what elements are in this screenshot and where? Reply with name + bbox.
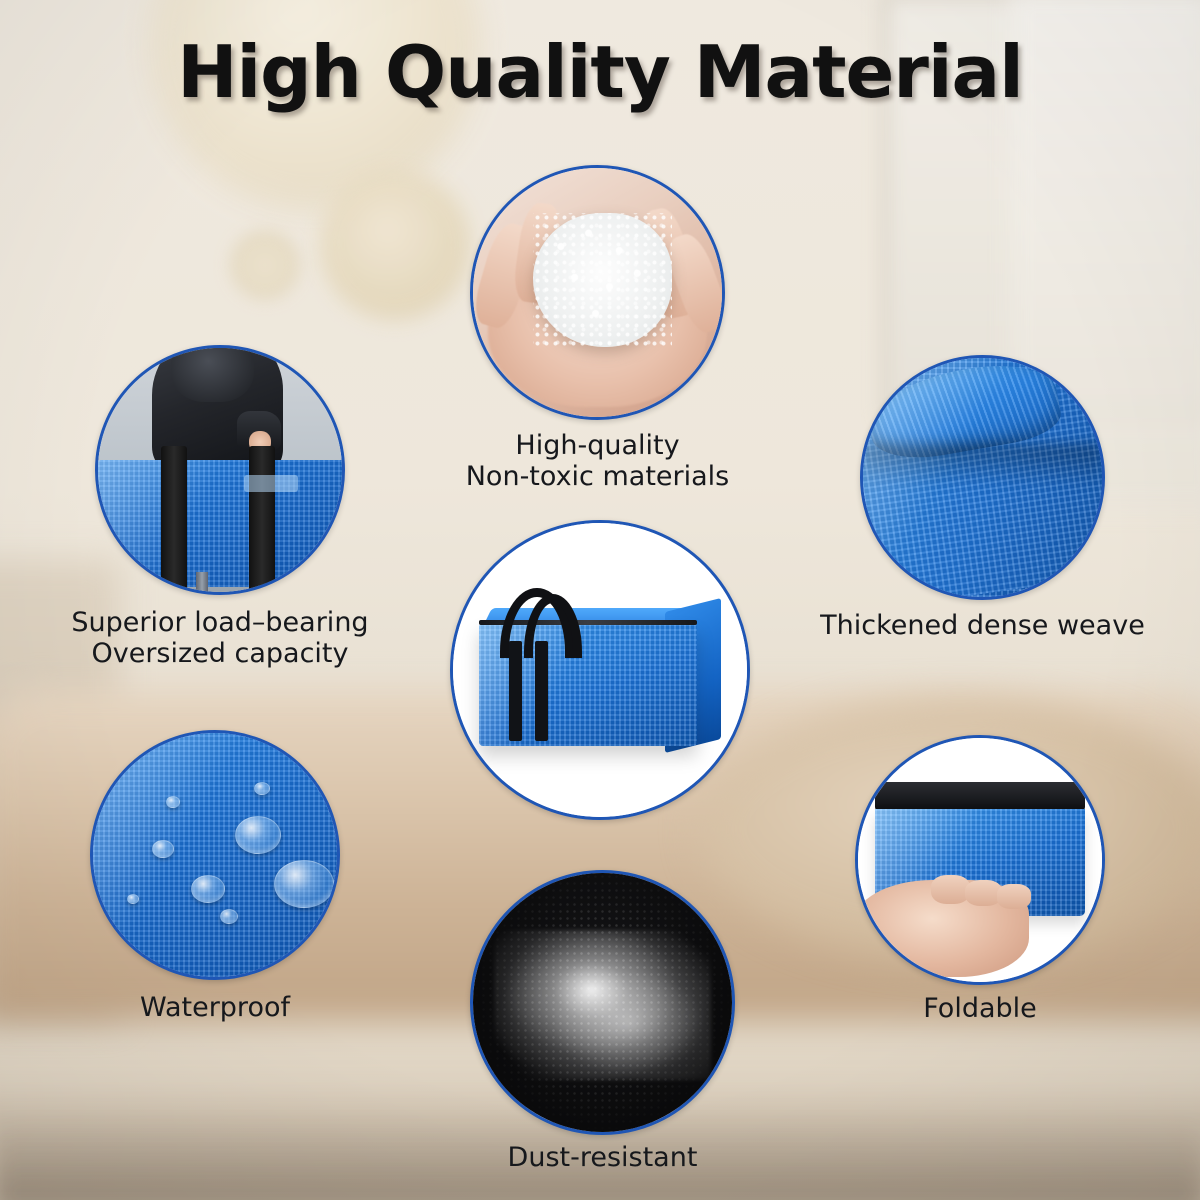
water-droplet [220,909,238,924]
feature-dense-weave-caption: Thickened dense weave [783,610,1183,641]
feature-waterproof-caption: Waterproof [35,992,395,1023]
water-droplet [254,782,270,795]
feature-load-bearing-caption: Superior load–bearing Oversized capacity [0,607,450,669]
feature-non-toxic-caption: High-quality Non-toxic materials [388,430,808,492]
water-droplet [152,840,174,858]
feature-foldable: Foldable [855,735,1105,985]
feature-dust-resistant-image [470,870,735,1135]
feature-load-bearing-image [95,345,345,595]
feature-main-product [450,520,750,820]
feature-waterproof-image [90,730,340,980]
page-title: High Quality Material [0,30,1200,114]
feature-non-toxic: High-quality Non-toxic materials [470,165,725,420]
feature-dust-resistant: Dust-resistant [470,870,735,1135]
feature-dust-resistant-caption: Dust-resistant [403,1142,803,1173]
water-droplet [274,860,334,908]
water-droplet [235,816,281,854]
feature-main-product-image [450,520,750,820]
feature-non-toxic-image [470,165,725,420]
background-lamp-small [230,230,300,300]
feature-load-bearing: Superior load–bearing Oversized capacity [95,345,345,595]
feature-waterproof: Waterproof [90,730,340,980]
feature-dense-weave-image [860,355,1105,600]
feature-foldable-caption: Foldable [810,993,1150,1024]
feature-dense-weave: Thickened dense weave [860,355,1105,600]
water-droplet [191,875,225,903]
background-lamp-medium [320,170,470,320]
feature-foldable-image [855,735,1105,985]
